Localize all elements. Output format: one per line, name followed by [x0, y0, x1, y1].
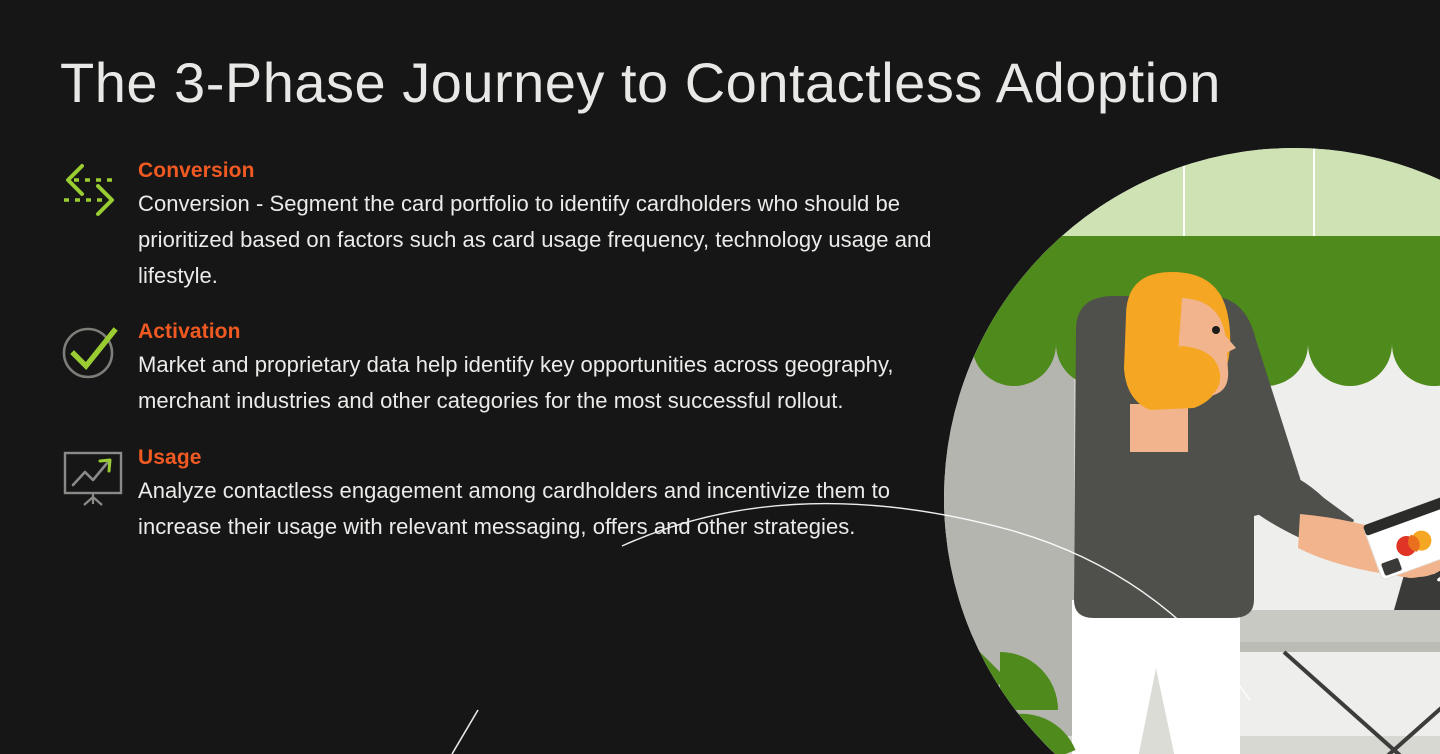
phase-heading: Conversion	[138, 158, 940, 184]
counter-top	[1216, 610, 1440, 642]
phase-text: Analyze contactless engagement among car…	[138, 473, 940, 544]
phase-body: Conversion Conversion - Segment the card…	[138, 158, 940, 293]
trend-chart-board-icon	[60, 449, 126, 507]
person-eye	[1212, 326, 1220, 334]
phase-heading: Usage	[138, 445, 940, 471]
person-neck	[1130, 404, 1188, 452]
decorative-diagonal-line	[452, 710, 478, 754]
phase-text: Market and proprietary data help identif…	[138, 347, 940, 418]
phase-body: Activation Market and proprietary data h…	[138, 319, 940, 419]
contactless-payment-illustration	[944, 148, 1440, 754]
phase-item-usage: Usage Analyze contactless engagement amo…	[60, 445, 940, 545]
page-title: The 3-Phase Journey to Contactless Adopt…	[60, 52, 1221, 114]
phase-icon-wrap	[60, 158, 138, 220]
phase-icon-wrap	[60, 445, 138, 507]
slide-canvas: The 3-Phase Journey to Contactless Adopt…	[0, 0, 1440, 754]
phase-item-conversion: Conversion Conversion - Segment the card…	[60, 158, 940, 293]
phase-heading: Activation	[138, 319, 940, 345]
phase-item-activation: Activation Market and proprietary data h…	[60, 319, 940, 419]
check-circle-icon	[60, 323, 120, 381]
two-way-dashed-arrow-icon	[60, 162, 120, 220]
phase-body: Usage Analyze contactless engagement amo…	[138, 445, 940, 545]
phase-text: Conversion - Segment the card portfolio …	[138, 186, 940, 293]
phase-list: Conversion Conversion - Segment the card…	[60, 158, 940, 570]
counter-edge	[1216, 642, 1440, 652]
awning-light-green	[944, 148, 1440, 236]
phase-icon-wrap	[60, 319, 138, 381]
